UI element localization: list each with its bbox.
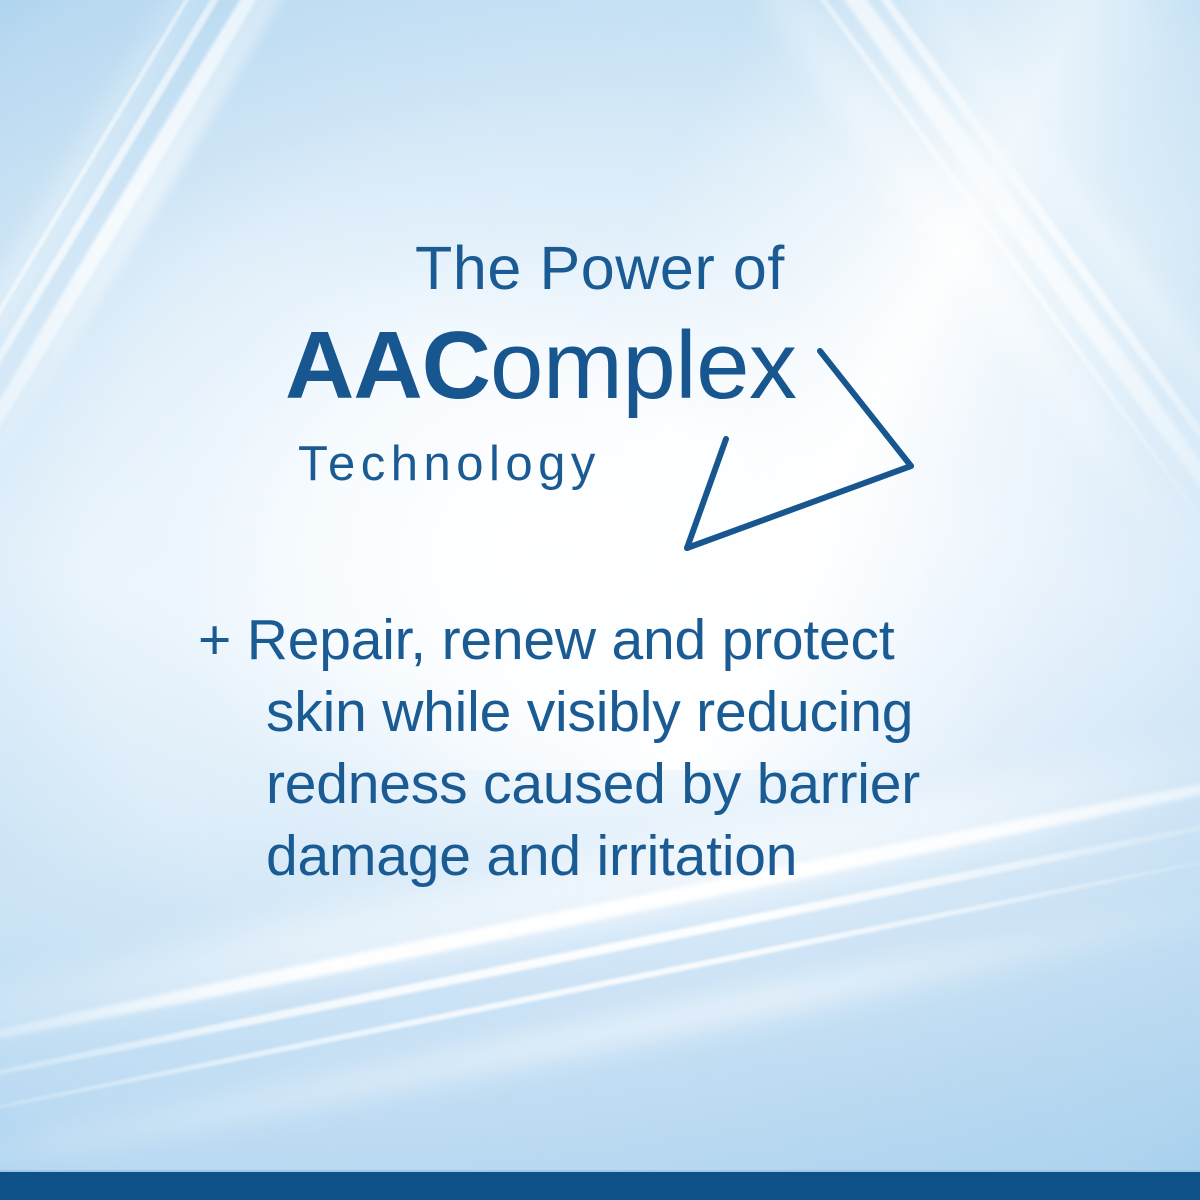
wordmark-aac: AAC [285,312,490,419]
brand-wordmark: AAComplex [285,318,796,414]
chevron-arrow-graphic [0,0,1200,1200]
benefit-line-3: redness caused by barrier [198,748,1028,820]
eyebrow-text: The Power of [0,238,1200,299]
benefit-line-1: + Repair, renew and protect [198,604,1028,676]
brand-tagline: Technology [298,440,601,489]
wordmark-omplex: omplex [490,312,796,419]
footer-bar [0,1170,1200,1200]
product-feature-banner: The Power of AAComplex Technology + Repa… [0,0,1200,1200]
benefit-line-2: skin while visibly reducing [198,676,1028,748]
benefit-line-1-text: Repair, renew and protect [247,608,895,672]
content-area: The Power of AAComplex Technology + Repa… [0,0,1200,1200]
benefit-statement: + Repair, renew and protect skin while v… [198,604,1028,892]
bullet-plus-icon: + [198,608,231,672]
benefit-line-4: damage and irritation [198,820,1028,892]
